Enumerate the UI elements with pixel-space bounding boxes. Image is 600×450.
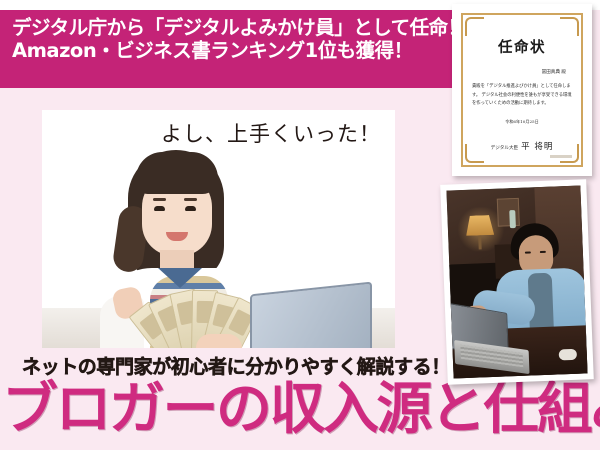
main-title: ブロガーの収入源と仕組み — [2, 382, 600, 438]
woman-eye-right — [185, 206, 196, 211]
certificate-seal-line — [550, 155, 572, 158]
certificate-signature: デジタル大臣平 将明 — [472, 134, 572, 153]
main-photo-caption: よし、上手くいった！ — [161, 118, 381, 148]
wall-picture-frame — [497, 198, 520, 227]
certificate-frame: 任命状 冨田真典 殿 貴殿を「デジタル推進よびかけ員」として任命します。 デジタ… — [461, 13, 583, 167]
certificate-signature-name: 平 将明 — [521, 142, 553, 152]
woman-fringe — [136, 152, 218, 194]
mouse-device — [559, 349, 577, 361]
bottle — [509, 210, 516, 228]
man-eye-right — [540, 251, 546, 253]
woman-eyebrow-left — [153, 198, 166, 201]
certificate-signature-role: デジタル大臣 — [491, 146, 518, 151]
lamp-stem — [478, 235, 482, 249]
header-band: デジタル庁から「デジタルよみかけ員」として任命！ Amazon・ビジネス書ランキ… — [0, 10, 456, 88]
woman-eye-left — [154, 206, 165, 211]
certificate-title: 任命状 — [472, 36, 572, 57]
certificate-corner-bottom-right — [560, 144, 579, 163]
certificate-corner-bottom-left — [465, 144, 484, 163]
laptop-screen — [250, 282, 372, 348]
woman-hand — [196, 334, 242, 348]
woman-eyebrow-right — [184, 198, 197, 201]
sub-headline: ネットの専門家が初心者に分かりやすく解説する！ — [22, 352, 450, 379]
header-line-1: デジタル庁から「デジタルよみかけ員」として任命！ — [12, 16, 446, 39]
certificate-body: 貴殿を「デジタル推進よびかけ員」として任命します。 デジタル社会の利便性を誰もが… — [472, 83, 572, 109]
certificate-date: 令和6年10月25日 — [472, 119, 572, 125]
man-eye-left — [525, 251, 531, 253]
certificate-recipient: 冨田真典 殿 — [472, 69, 572, 75]
man-photo-inner — [446, 185, 587, 378]
header-line-2: Amazon・ビジネス書ランキング1位も獲得！ — [12, 39, 446, 62]
blog-income-banner: デジタル庁から「デジタルよみかけ員」として任命！ Amazon・ビジネス書ランキ… — [0, 0, 600, 450]
main-photo: よし、上手くいった！ — [42, 110, 395, 348]
man-photo — [440, 179, 594, 384]
appointment-certificate: 任命状 冨田真典 殿 貴殿を「デジタル推進よびかけ員」として任命します。 デジタ… — [452, 4, 592, 176]
